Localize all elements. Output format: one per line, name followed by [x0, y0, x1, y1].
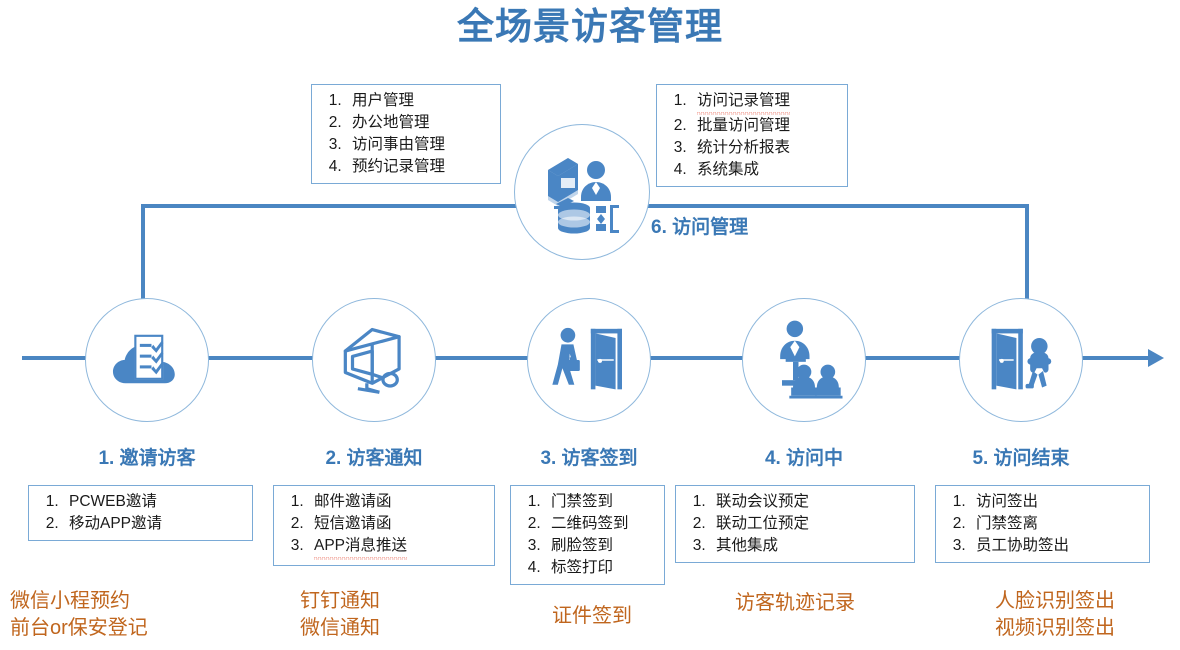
- list-item: 移动APP邀请: [63, 513, 244, 535]
- step-1-caption: 微信小程预约 前台or保安登记: [10, 588, 230, 642]
- step-3-caption: 证件签到: [512, 603, 672, 630]
- list-item: 用户管理: [346, 90, 492, 112]
- node-step-2-visitor-notification[interactable]: [312, 298, 436, 422]
- list-item: 员工协助签出: [970, 535, 1141, 557]
- server-user-icon: [530, 140, 635, 245]
- list-item: 联动会议预定: [710, 491, 906, 513]
- node-step-1-invite-visitor[interactable]: [85, 298, 209, 422]
- management-left-list: 用户管理 办公地管理 访问事由管理 预约记录管理: [311, 84, 501, 184]
- page-title: 全场景访客管理: [0, 2, 1180, 52]
- list-item: 办公地管理: [346, 112, 492, 134]
- caption-line: 证件签到: [512, 603, 672, 630]
- step-4-caption: 访客轨迹记录: [700, 590, 890, 617]
- list-item: 标签打印: [545, 557, 656, 579]
- caption-line: 钉钉通知: [300, 588, 480, 615]
- list-item: 刷脸签到: [545, 535, 656, 557]
- list-item: 系统集成: [691, 159, 839, 181]
- step-label-5: 5. 访问结束: [931, 443, 1111, 470]
- caption-line: 访客轨迹记录: [700, 590, 890, 617]
- step-5-list-items: 访问签出 门禁签离 员工协助签出: [944, 491, 1141, 557]
- list-item: 邮件邀请函: [308, 491, 486, 513]
- step-label-2: 2. 访客通知: [284, 443, 464, 470]
- step-1-list: PCWEB邀请 移动APP邀请: [28, 485, 253, 541]
- management-left-list-items: 用户管理 办公地管理 访问事由管理 预约记录管理: [320, 90, 492, 178]
- step-5-list: 访问签出 门禁签离 员工协助签出: [935, 485, 1150, 563]
- person-exiting-door-icon: [973, 312, 1068, 407]
- list-item: 访问事由管理: [346, 134, 492, 156]
- list-item: 门禁签到: [545, 491, 656, 513]
- list-item: 预约记录管理: [346, 156, 492, 178]
- step-label-4: 4. 访问中: [714, 443, 894, 470]
- monitor-mouse-icon: [326, 312, 421, 407]
- caption-line: 人脸识别签出: [955, 588, 1155, 615]
- cloud-checklist-icon: [99, 312, 194, 407]
- management-node-label: 6. 访问管理: [651, 212, 748, 239]
- management-right-list-items: 访问记录管理 批量访问管理 统计分析报表 系统集成: [665, 90, 839, 181]
- step-1-list-items: PCWEB邀请 移动APP邀请: [37, 491, 244, 535]
- list-item: 访问签出: [970, 491, 1141, 513]
- list-item: 访问记录管理: [691, 90, 839, 115]
- list-item: 短信邀请函: [308, 513, 486, 535]
- step-4-list: 联动会议预定 联动工位预定 其他集成: [675, 485, 915, 563]
- caption-line: 前台or保安登记: [10, 615, 230, 642]
- node-visit-management[interactable]: [514, 124, 650, 260]
- meeting-presentation-icon: [756, 312, 851, 407]
- node-step-4-visiting[interactable]: [742, 298, 866, 422]
- step-label-1: 1. 邀请访客: [57, 443, 237, 470]
- list-item: PCWEB邀请: [63, 491, 244, 513]
- caption-line: 微信小程预约: [10, 588, 230, 615]
- flow-arrow-head: [1148, 349, 1164, 367]
- step-3-list-items: 门禁签到 二维码签到 刷脸签到 标签打印: [519, 491, 656, 579]
- list-item: APP消息推送: [308, 535, 486, 560]
- list-item: 统计分析报表: [691, 137, 839, 159]
- list-item: 联动工位预定: [710, 513, 906, 535]
- step-2-caption: 钉钉通知 微信通知: [300, 588, 480, 642]
- node-step-3-visitor-checkin[interactable]: [527, 298, 651, 422]
- list-item: 二维码签到: [545, 513, 656, 535]
- diagram-canvas: 全场景访客管理: [0, 0, 1180, 650]
- step-2-list: 邮件邀请函 短信邀请函 APP消息推送: [273, 485, 495, 566]
- list-item: 其他集成: [710, 535, 906, 557]
- management-right-list: 访问记录管理 批量访问管理 统计分析报表 系统集成: [656, 84, 848, 187]
- list-item: 批量访问管理: [691, 115, 839, 137]
- step-3-list: 门禁签到 二维码签到 刷脸签到 标签打印: [510, 485, 665, 585]
- list-item: 门禁签离: [970, 513, 1141, 535]
- caption-line: 视频识别签出: [955, 615, 1155, 642]
- step-5-caption: 人脸识别签出 视频识别签出: [955, 588, 1155, 642]
- person-entering-door-icon: [541, 312, 636, 407]
- step-4-list-items: 联动会议预定 联动工位预定 其他集成: [684, 491, 906, 557]
- caption-line: 微信通知: [300, 615, 480, 642]
- step-label-3: 3. 访客签到: [499, 443, 679, 470]
- step-2-list-items: 邮件邀请函 短信邀请函 APP消息推送: [282, 491, 486, 560]
- node-step-5-visit-end[interactable]: [959, 298, 1083, 422]
